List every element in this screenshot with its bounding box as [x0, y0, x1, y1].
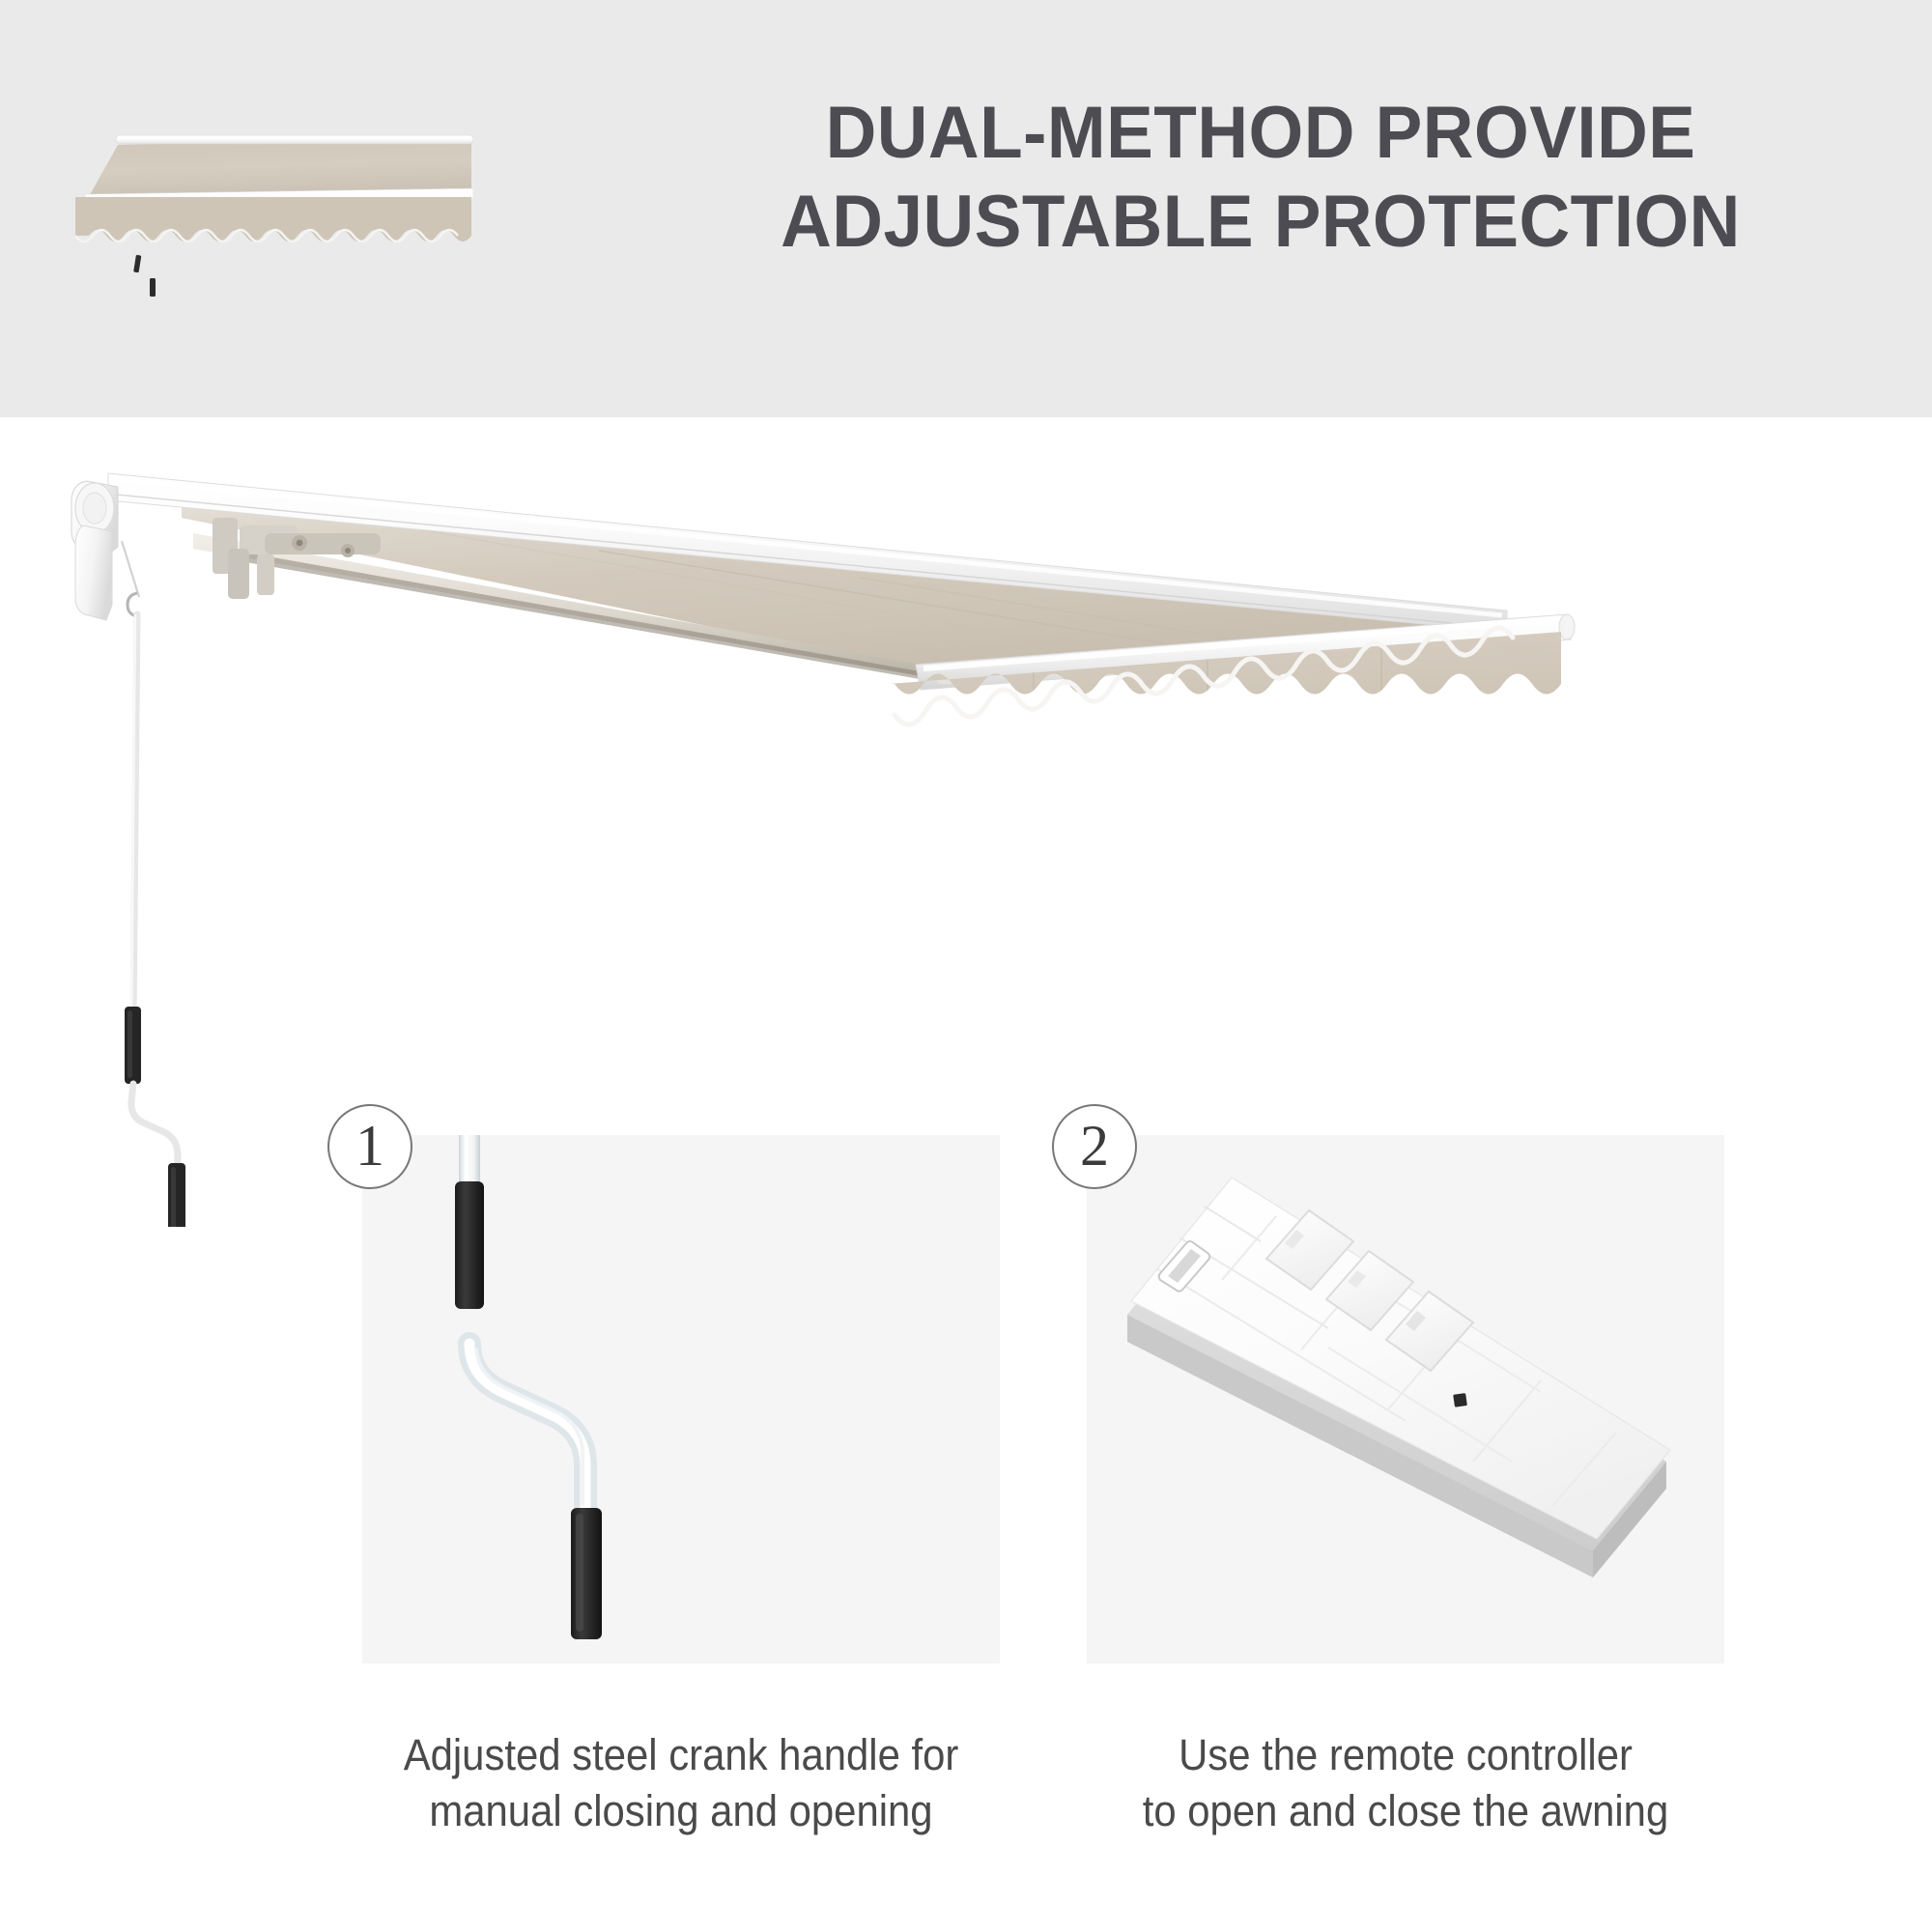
crank-handle-image	[362, 1135, 1000, 1663]
caption-1-line-1: Adjusted steel crank handle for	[367, 1727, 996, 1783]
feature-badge-1: 1	[327, 1104, 412, 1189]
title-line-2: ADJUSTABLE PROTECTION	[644, 178, 1878, 267]
caption-1-line-2: manual closing and opening	[367, 1783, 996, 1839]
caption-2-line-2: to open and close the awning	[1092, 1783, 1720, 1839]
feature-panel-crank	[362, 1135, 1000, 1663]
remote-controller-image	[1087, 1135, 1724, 1663]
hero-awning-image	[58, 425, 1874, 1227]
feature-caption-1: Adjusted steel crank handle for manual c…	[367, 1727, 996, 1839]
feature-badge-2: 2	[1052, 1104, 1137, 1189]
caption-2-line-1: Use the remote controller	[1092, 1727, 1720, 1783]
feature-panel-remote	[1087, 1135, 1724, 1663]
title-line-1: DUAL-METHOD PROVIDE	[644, 89, 1878, 178]
page-title: DUAL-METHOD PROVIDE ADJUSTABLE PROTECTIO…	[644, 89, 1878, 267]
header-awning-thumbnail	[68, 108, 473, 301]
feature-caption-2: Use the remote controller to open and cl…	[1092, 1727, 1720, 1839]
